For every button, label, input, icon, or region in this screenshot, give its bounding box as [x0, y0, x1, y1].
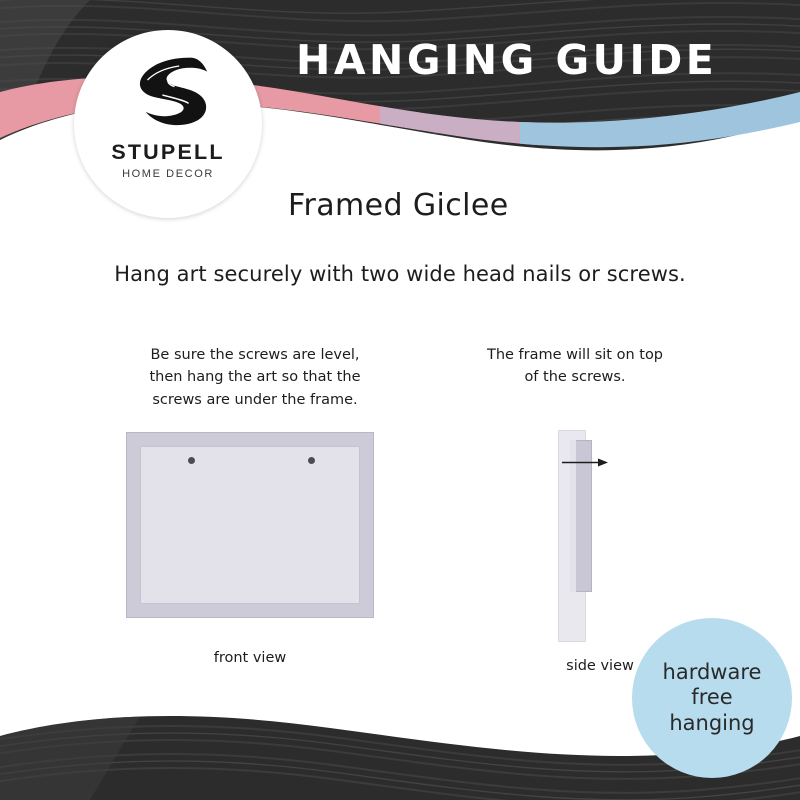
front-caption-line-1: Be sure the screws are level, [120, 344, 390, 366]
product-type: Framed Giclee [288, 188, 509, 223]
screw-marker-right-icon [308, 457, 315, 464]
badge-line-2: free [691, 685, 732, 711]
hardware-free-badge: hardware free hanging [632, 618, 792, 778]
brand-subtitle: HOME DECOR [122, 168, 214, 180]
screw-marker-left-icon [188, 457, 195, 464]
badge-line-1: hardware [663, 660, 762, 686]
frame-artwork-area [140, 446, 360, 604]
hanging-guide-page: HANGING GUIDE STUPELL HOME DECOR Framed … [0, 0, 800, 800]
swoosh-logo-icon [120, 52, 216, 136]
screw-icon [562, 458, 614, 467]
page-title: HANGING GUIDE [296, 36, 717, 84]
front-view-caption: Be sure the screws are level, then hang … [120, 344, 390, 411]
side-caption-line-2: of the screws. [455, 366, 695, 388]
front-caption-line-3: screws are under the frame. [120, 389, 390, 411]
brand-logo-badge: STUPELL HOME DECOR [74, 30, 262, 218]
side-caption-line-1: The frame will sit on top [455, 344, 695, 366]
side-view-diagram [540, 430, 670, 642]
side-view-caption: The frame will sit on top of the screws. [455, 344, 695, 389]
badge-line-3: hanging [669, 711, 754, 737]
front-view-label: front view [126, 650, 374, 666]
brand-name: STUPELL [111, 140, 224, 165]
front-caption-line-2: then hang the art so that the [120, 366, 390, 388]
main-instruction: Hang art securely with two wide head nai… [0, 262, 800, 286]
front-view-diagram [126, 432, 374, 618]
